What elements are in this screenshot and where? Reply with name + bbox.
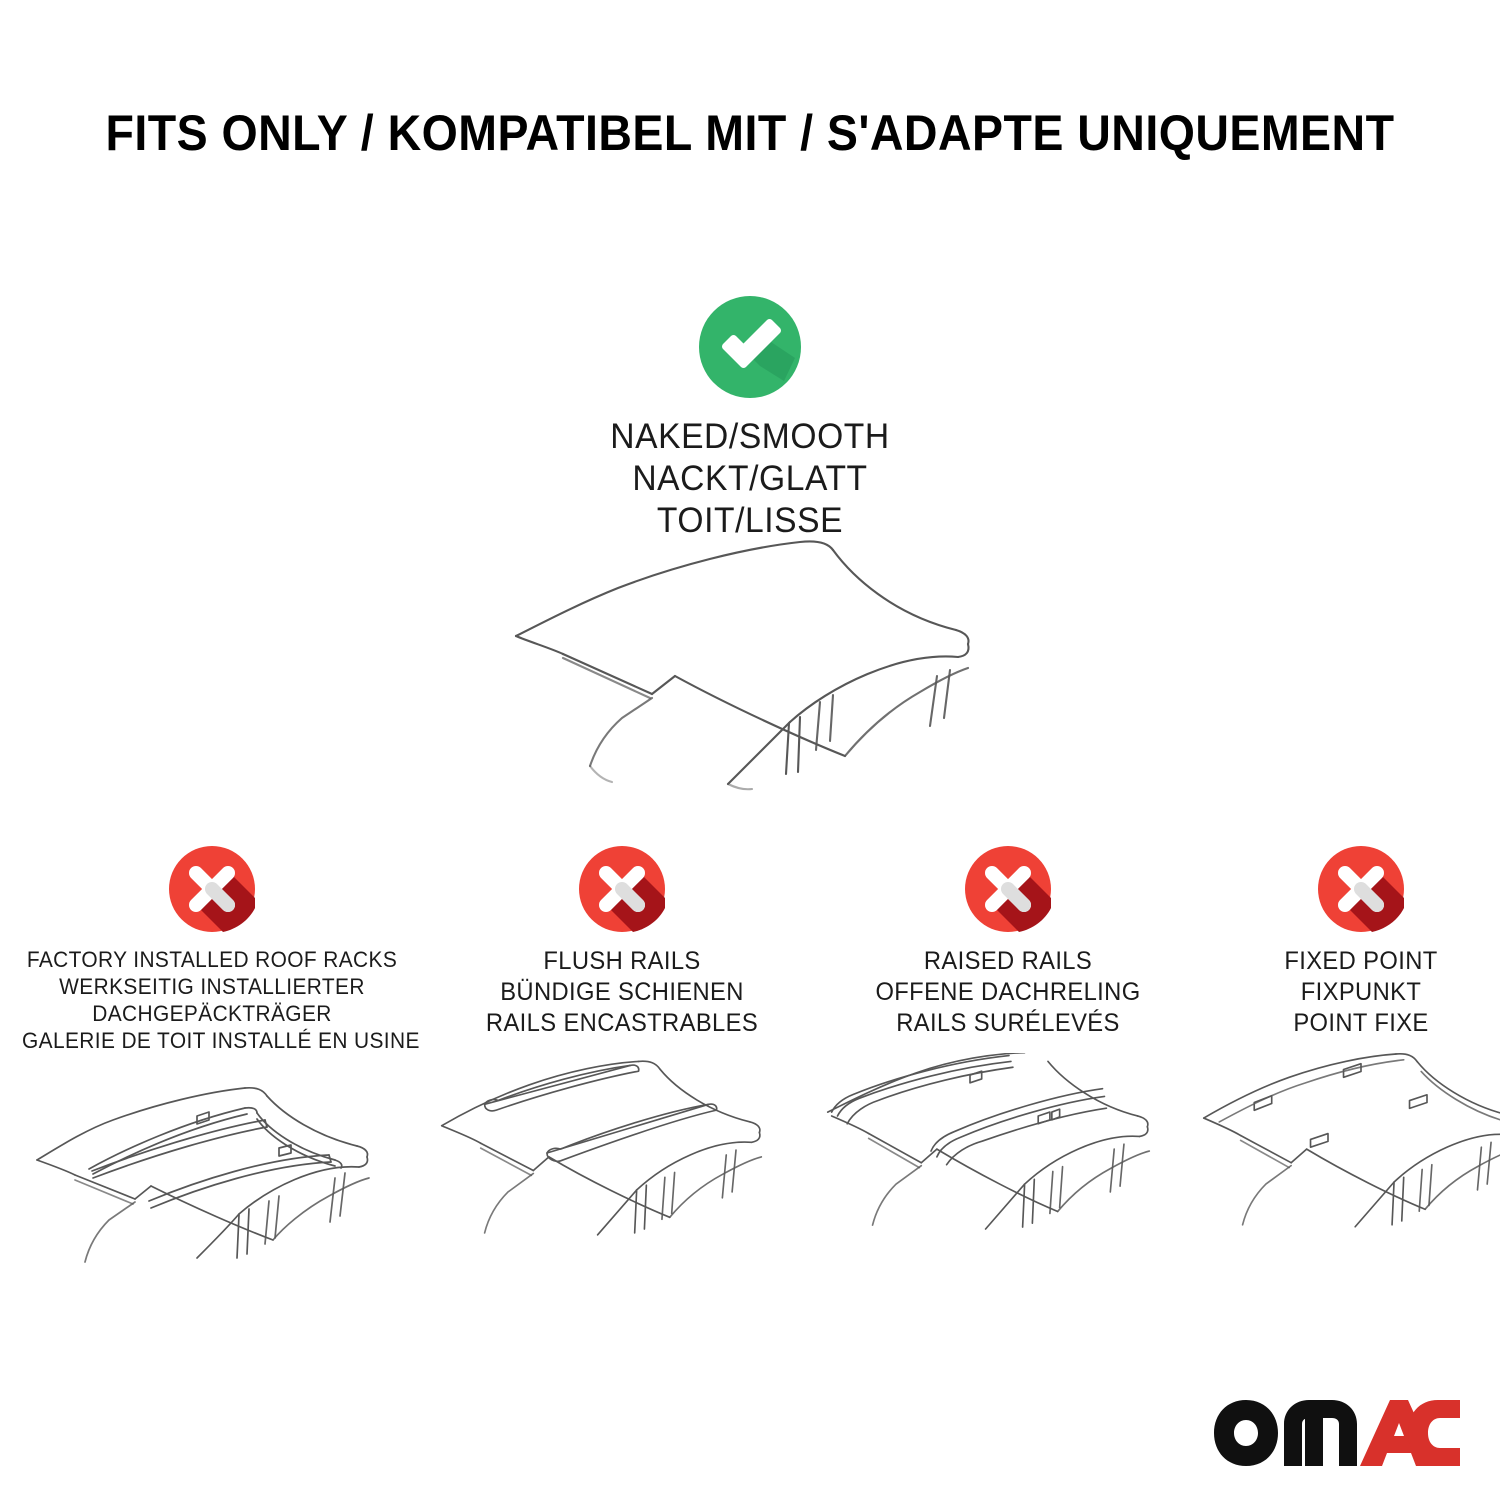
incompatible-item-factory-roof-racks: FACTORY INSTALLED ROOF RACKS WERKSEITIG … <box>12 846 412 1268</box>
incompatible-item-flush-rails: FLUSH RAILS BÜNDIGE SCHIENEN RAILS ENCAS… <box>432 846 812 1253</box>
fixed-point-illustration <box>1196 1053 1500 1253</box>
compatible-section: NAKED/SMOOTH NACKT/GLATT TOIT/LISSE <box>0 296 1500 542</box>
label-fr: POINT FIXE <box>1204 1008 1500 1039</box>
label-en: FACTORY INSTALLED ROOF RACKS <box>22 946 402 973</box>
naked-smooth-roof-illustration <box>0 526 1500 806</box>
incompatible-item-raised-rails: RAISED RAILS OFFENE DACHRELING RAILS SUR… <box>818 846 1198 1253</box>
raised-rails-illustration <box>818 1053 1198 1253</box>
factory-roof-rack-illustration <box>12 1068 412 1268</box>
incompatible-label: FLUSH RAILS BÜNDIGE SCHIENEN RAILS ENCAS… <box>442 946 803 1039</box>
label-en: FIXED POINT <box>1204 946 1500 977</box>
incompatible-section: FACTORY INSTALLED ROOF RACKS WERKSEITIG … <box>0 846 1500 1266</box>
cross-circle-icon <box>579 846 665 932</box>
label-fr: RAILS SURÉLEVÉS <box>828 1008 1189 1039</box>
label-en: FLUSH RAILS <box>442 946 803 977</box>
page-title-text: FITS ONLY / KOMPATIBEL MIT / S'ADAPTE UN… <box>106 104 1395 162</box>
label-fr: GALERIE DE TOIT INSTALLÉ EN USINE <box>22 1027 402 1054</box>
compatible-label-en: NAKED/SMOOTH <box>30 416 1470 458</box>
label-de-1: WERKSEITIG INSTALLIERTER <box>22 973 402 1000</box>
incompatible-item-fixed-point: FIXED POINT FIXPUNKT POINT FIXE <box>1196 846 1500 1253</box>
omac-logo <box>1212 1396 1462 1470</box>
page-title: FITS ONLY / KOMPATIBEL MIT / S'ADAPTE UN… <box>0 104 1500 162</box>
label-de-2: DACHGEPÄCKTRÄGER <box>22 1000 402 1027</box>
cross-circle-icon <box>169 846 255 932</box>
label-en: RAISED RAILS <box>828 946 1189 977</box>
incompatible-label: RAISED RAILS OFFENE DACHRELING RAILS SUR… <box>828 946 1189 1039</box>
cross-circle-icon <box>965 846 1051 932</box>
cross-circle-icon <box>1318 846 1404 932</box>
compatible-label-de: NACKT/GLATT <box>30 458 1470 500</box>
compatible-label: NAKED/SMOOTH NACKT/GLATT TOIT/LISSE <box>30 416 1470 542</box>
flush-rails-illustration <box>432 1053 812 1253</box>
label-de-1: OFFENE DACHRELING <box>828 977 1189 1008</box>
incompatible-label: FIXED POINT FIXPUNKT POINT FIXE <box>1204 946 1500 1039</box>
label-fr: RAILS ENCASTRABLES <box>442 1008 803 1039</box>
label-de-1: BÜNDIGE SCHIENEN <box>442 977 803 1008</box>
fitment-infographic: FITS ONLY / KOMPATIBEL MIT / S'ADAPTE UN… <box>0 0 1500 1500</box>
label-de-1: FIXPUNKT <box>1204 977 1500 1008</box>
incompatible-label: FACTORY INSTALLED ROOF RACKS WERKSEITIG … <box>22 946 402 1054</box>
check-circle-icon <box>699 296 801 398</box>
